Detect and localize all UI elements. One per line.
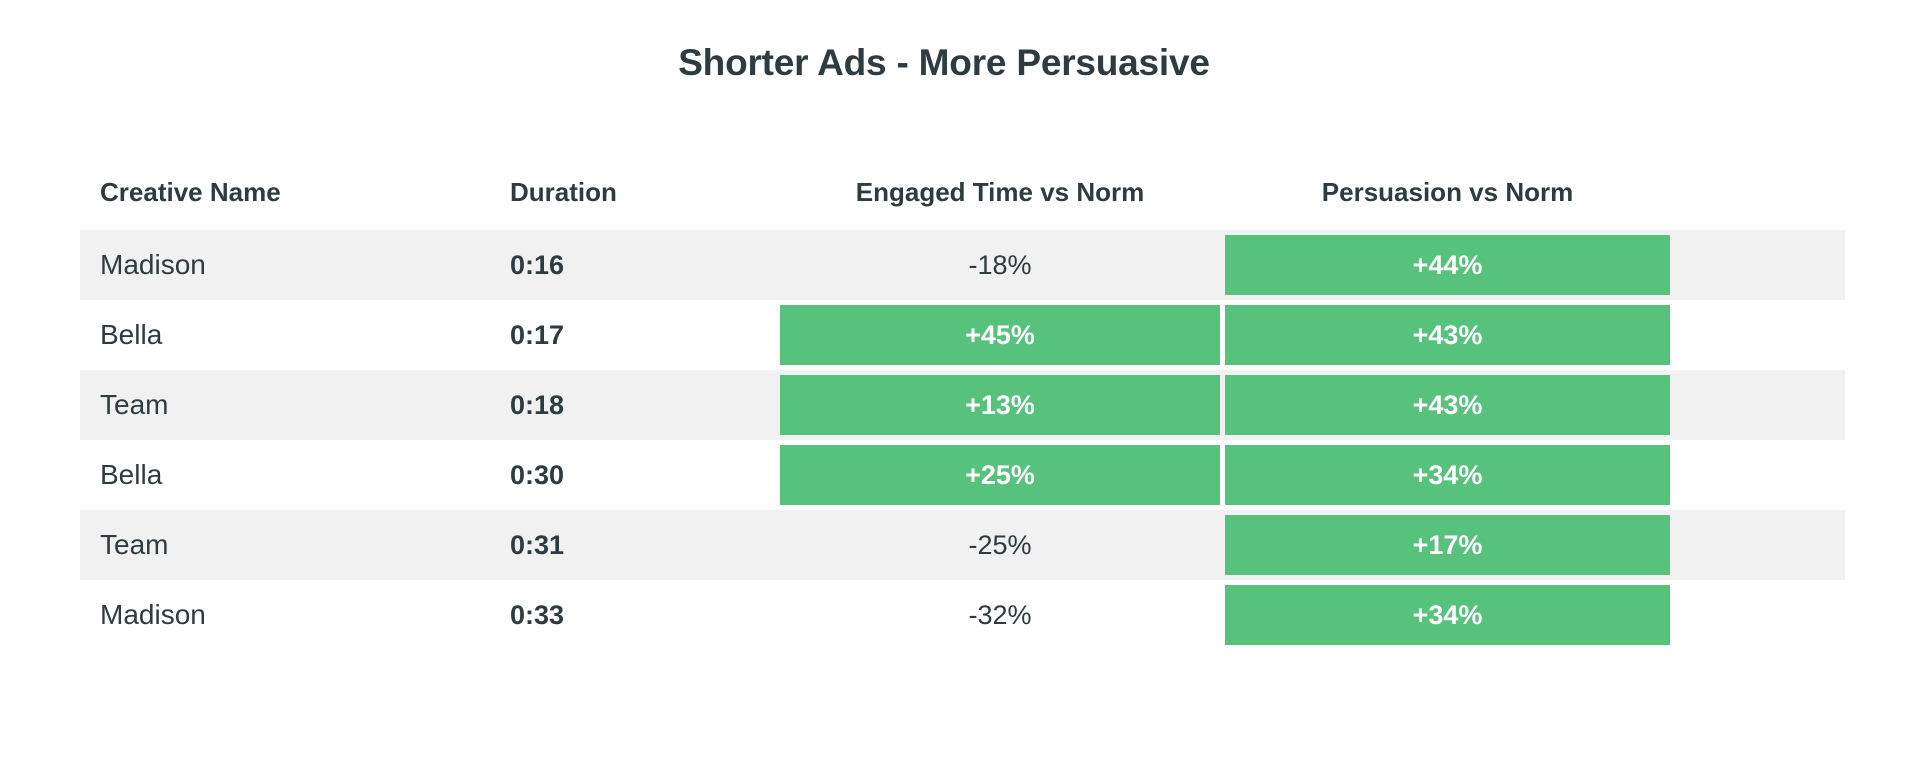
cell-persuasion: +44% (1225, 230, 1845, 300)
cell-engaged-time: -25% (780, 510, 1220, 580)
table-row[interactable]: Madison0:33-32%+34% (80, 580, 1845, 650)
cell-duration: 0:33 (510, 580, 710, 650)
cell-creative-name: Bella (100, 440, 162, 510)
engaged-time-value: +13% (780, 370, 1220, 440)
cell-creative-name: Team (100, 370, 168, 440)
cell-creative-name: Madison (100, 580, 206, 650)
cell-persuasion: +17% (1225, 510, 1845, 580)
chart-page: Shorter Ads - More Persuasive Creative N… (0, 0, 1920, 770)
cell-engaged-time: +13% (780, 370, 1220, 440)
column-header-creative-name: Creative Name (100, 175, 281, 209)
table-row[interactable]: Madison0:16-18%+44% (80, 230, 1845, 300)
data-table: Creative Name Duration Engaged Time vs N… (80, 175, 1845, 650)
cell-creative-name: Team (100, 510, 168, 580)
cell-creative-name: Madison (100, 230, 206, 300)
table-body: Madison0:16-18%+44%Bella0:17+45%+43%Team… (80, 230, 1845, 650)
cell-engaged-time: +25% (780, 440, 1220, 510)
column-header-engaged-time: Engaged Time vs Norm (780, 175, 1220, 209)
table-header-row: Creative Name Duration Engaged Time vs N… (80, 175, 1845, 230)
cell-creative-name: Bella (100, 300, 162, 370)
engaged-time-value: -25% (780, 510, 1220, 580)
table-row[interactable]: Bella0:17+45%+43% (80, 300, 1845, 370)
engaged-time-value: -32% (780, 580, 1220, 650)
cell-duration: 0:16 (510, 230, 710, 300)
cell-duration: 0:17 (510, 300, 710, 370)
cell-persuasion: +34% (1225, 440, 1845, 510)
engaged-time-value: -18% (780, 230, 1220, 300)
column-header-persuasion: Persuasion vs Norm (1225, 175, 1670, 209)
cell-engaged-time: -32% (780, 580, 1220, 650)
persuasion-value: +34% (1225, 580, 1670, 650)
cell-persuasion: +34% (1225, 580, 1845, 650)
cell-persuasion: +43% (1225, 300, 1845, 370)
persuasion-value: +43% (1225, 300, 1670, 370)
column-header-duration: Duration (510, 175, 710, 209)
cell-engaged-time: -18% (780, 230, 1220, 300)
cell-duration: 0:18 (510, 370, 710, 440)
cell-persuasion: +43% (1225, 370, 1845, 440)
engaged-time-value: +25% (780, 440, 1220, 510)
cell-duration: 0:30 (510, 440, 710, 510)
page-title: Shorter Ads - More Persuasive (0, 42, 1888, 84)
table-row[interactable]: Team0:31-25%+17% (80, 510, 1845, 580)
persuasion-value: +43% (1225, 370, 1670, 440)
persuasion-value: +17% (1225, 510, 1670, 580)
persuasion-value: +44% (1225, 230, 1670, 300)
table-row[interactable]: Bella0:30+25%+34% (80, 440, 1845, 510)
cell-duration: 0:31 (510, 510, 710, 580)
persuasion-value: +34% (1225, 440, 1670, 510)
cell-engaged-time: +45% (780, 300, 1220, 370)
table-row[interactable]: Team0:18+13%+43% (80, 370, 1845, 440)
engaged-time-value: +45% (780, 300, 1220, 370)
